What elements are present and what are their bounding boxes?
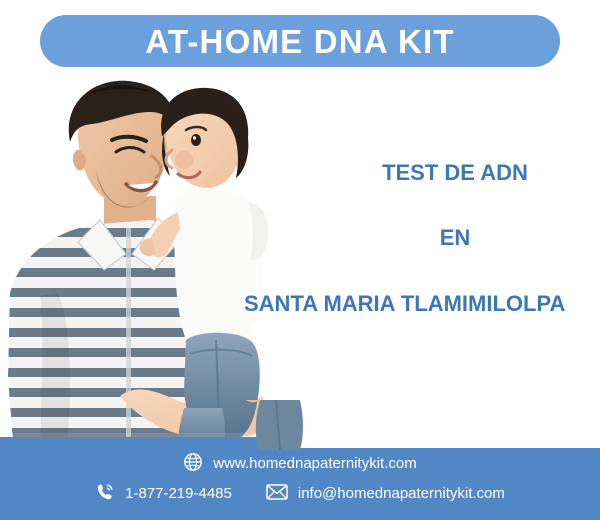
footer-phone[interactable]: 1-877-219-4485 bbox=[95, 482, 232, 506]
banner-title: AT-HOME DNA KIT bbox=[145, 25, 454, 58]
poster-canvas: AT-HOME DNA KIT bbox=[0, 0, 600, 520]
footer-content: www.homednapaternitykit.com 1-877-219-44… bbox=[0, 437, 600, 520]
headline-block: TEST DE ADN EN SANTA MARIA TLAMIMILOLPA bbox=[310, 160, 600, 316]
footer-phone-text: 1-877-219-4485 bbox=[125, 485, 232, 502]
envelope-icon bbox=[266, 483, 288, 505]
phone-icon bbox=[95, 482, 115, 506]
family-photo bbox=[0, 78, 330, 453]
footer-email-text: info@homednapaternitykit.com bbox=[298, 485, 505, 502]
headline-line-1: TEST DE ADN bbox=[310, 160, 600, 185]
header-banner: AT-HOME DNA KIT bbox=[40, 15, 560, 67]
footer-row-contact: 1-877-219-4485 info@homednapaternitykit.… bbox=[95, 482, 505, 506]
footer-website-text: www.homednapaternitykit.com bbox=[213, 455, 416, 472]
headline-line-2: EN bbox=[310, 225, 600, 250]
headline-line-3: SANTA MARIA TLAMIMILOLPA bbox=[244, 291, 600, 316]
footer-row-website: www.homednapaternitykit.com bbox=[183, 452, 416, 476]
globe-icon bbox=[183, 452, 203, 476]
footer-website[interactable]: www.homednapaternitykit.com bbox=[183, 452, 416, 476]
footer-email[interactable]: info@homednapaternitykit.com bbox=[266, 483, 505, 505]
